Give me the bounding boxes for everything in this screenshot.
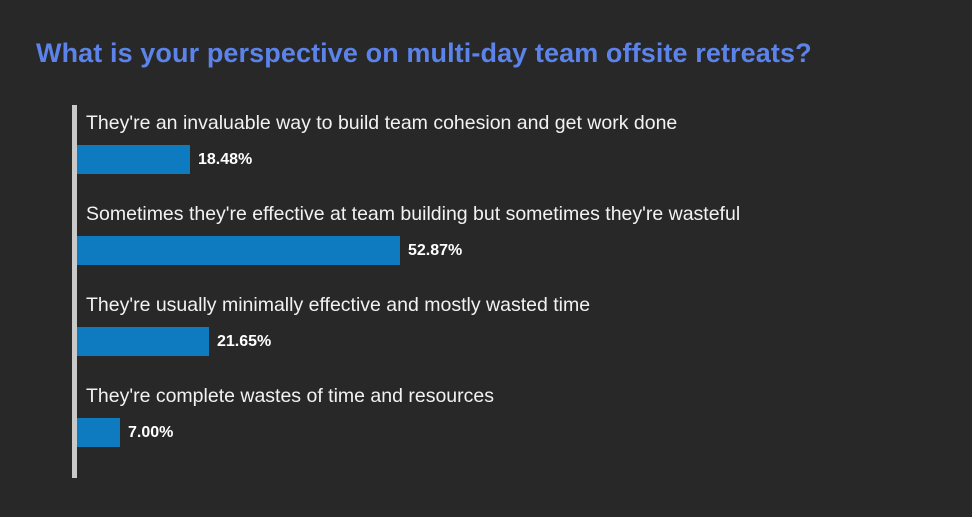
bar-value-label: 7.00% xyxy=(128,422,173,443)
poll-option-row: They're usually minimally effective and … xyxy=(77,287,952,378)
bar-value-label: 21.65% xyxy=(217,331,271,352)
poll-option-row: They're an invaluable way to build team … xyxy=(77,105,952,196)
page-title: What is your perspective on multi-day te… xyxy=(36,38,946,69)
bar-track: 21.65% xyxy=(77,327,952,356)
poll-option-row: Sometimes they're effective at team buil… xyxy=(77,196,952,287)
bar-fill xyxy=(77,145,190,174)
bar-fill xyxy=(77,418,120,447)
poll-option-label: Sometimes they're effective at team buil… xyxy=(86,202,740,226)
poll-option-row: They're complete wastes of time and reso… xyxy=(77,378,952,469)
bar-track: 52.87% xyxy=(77,236,952,265)
poll-option-label: They're an invaluable way to build team … xyxy=(86,111,677,135)
chart-plot-area: They're an invaluable way to build team … xyxy=(72,105,952,480)
poll-option-label: They're usually minimally effective and … xyxy=(86,293,590,317)
bar-value-label: 52.87% xyxy=(408,240,462,261)
bar-track: 18.48% xyxy=(77,145,952,174)
bar-value-label: 18.48% xyxy=(198,149,252,170)
poll-option-label: They're complete wastes of time and reso… xyxy=(86,384,494,408)
bar-fill xyxy=(77,327,209,356)
bar-fill xyxy=(77,236,400,265)
bar-track: 7.00% xyxy=(77,418,952,447)
poll-results-chart: What is your perspective on multi-day te… xyxy=(0,0,972,517)
